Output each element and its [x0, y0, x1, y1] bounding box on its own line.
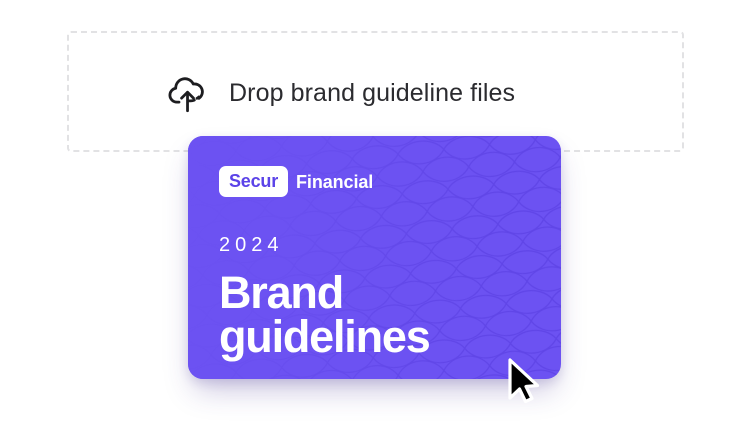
- logo-badge: Secur: [219, 166, 288, 197]
- card-year-label: 2024: [219, 235, 541, 255]
- brand-logo-lockup: Secur Financial: [219, 166, 541, 197]
- card-title: Brand guidelines: [219, 271, 541, 359]
- upload-cloud-icon: [165, 71, 211, 117]
- upload-canvas: Drop brand guideline files: [0, 0, 750, 423]
- logo-badge-text: Secur: [229, 172, 278, 190]
- card-content: Secur Financial 2024 Brand guidelines: [219, 166, 541, 359]
- file-dropzone[interactable]: Drop brand guideline files: [67, 31, 684, 152]
- card-title-line-1: Brand: [219, 271, 541, 315]
- card-title-line-2: guidelines: [219, 315, 541, 359]
- brand-guidelines-card[interactable]: Secur Financial 2024 Brand guidelines: [188, 136, 561, 379]
- logo-suffix-text: Financial: [296, 173, 373, 191]
- dropzone-label: Drop brand guideline files: [229, 79, 515, 108]
